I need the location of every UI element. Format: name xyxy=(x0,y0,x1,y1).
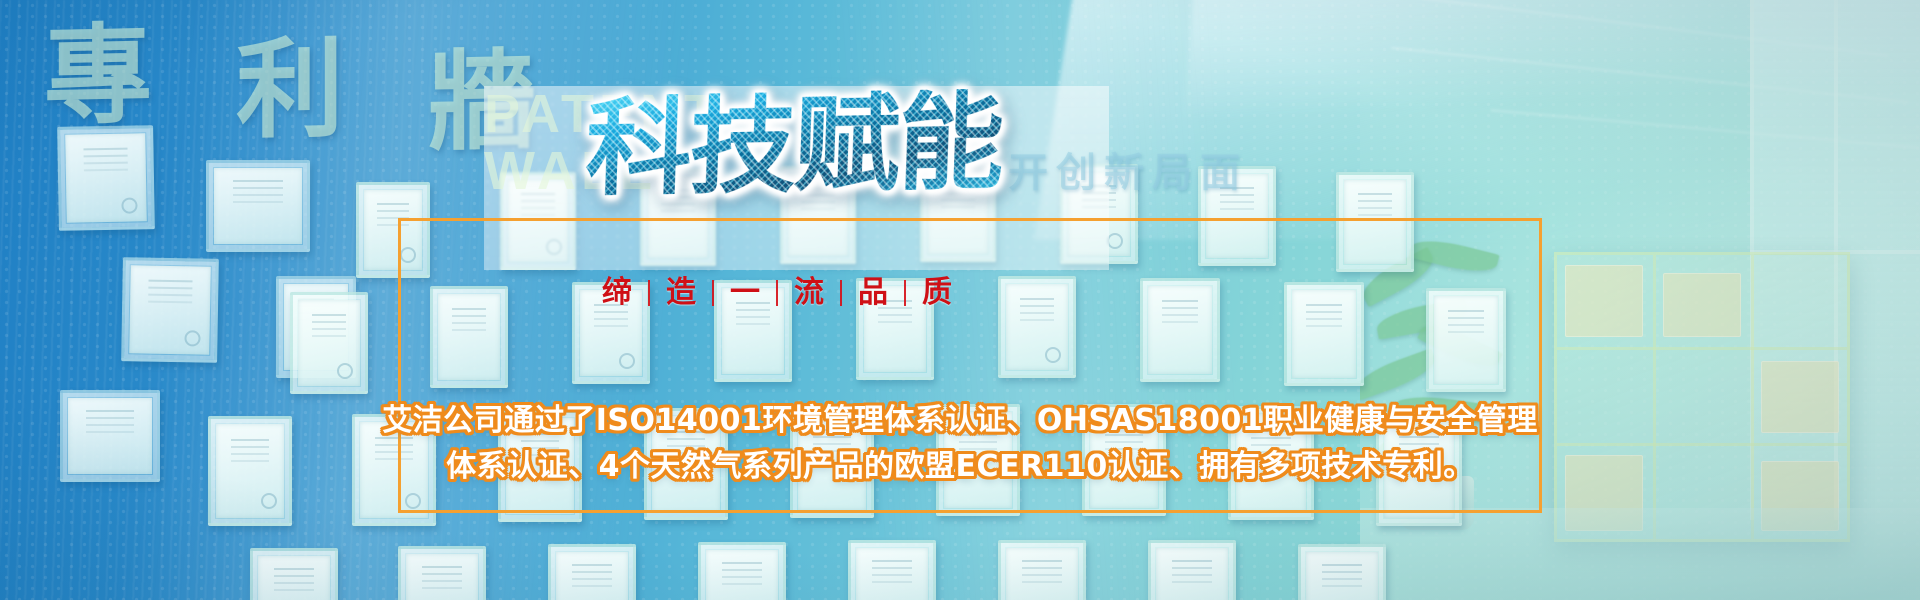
slogan-separator xyxy=(840,280,842,306)
slogan-subtitle: 缔 造 一 流 品 质 xyxy=(586,278,968,308)
slogan-char-5: 品 xyxy=(842,278,904,308)
slogan-char-3: 一 xyxy=(714,278,776,308)
slogan-char-4: 流 xyxy=(778,278,840,308)
banner-stage: 專 利 牆 PATENT WALL 开创新局面 科技赋能 缔 造 一 流 品 质… xyxy=(0,0,1920,600)
wall-calligraphy: 專 利 牆 xyxy=(44,13,536,165)
slogan-separator xyxy=(648,280,650,306)
description-line-1: 艾洁公司通过了ISO14001环境管理体系认证、OHSAS18001职业健康与安… xyxy=(0,398,1920,444)
slogan-char-2: 造 xyxy=(650,278,712,308)
company-description: 艾洁公司通过了ISO14001环境管理体系认证、OHSAS18001职业健康与安… xyxy=(0,398,1920,489)
slogan-char-1: 缔 xyxy=(586,278,648,308)
slogan-char-6: 质 xyxy=(906,278,968,308)
slogan-separator xyxy=(776,280,778,306)
calligraphy-char-2: 利 xyxy=(236,35,344,161)
slogan-separator xyxy=(904,280,906,306)
description-line-2: 体系认证、4个天然气系列产品的欧盟ECER110认证、拥有多项技术专利。 xyxy=(0,444,1920,490)
slogan-separator xyxy=(712,280,714,306)
background-phrase: 开创新局面 xyxy=(1008,140,1248,198)
page-title: 科技赋能 xyxy=(584,88,1004,201)
calligraphy-char-1: 專 xyxy=(44,21,152,165)
